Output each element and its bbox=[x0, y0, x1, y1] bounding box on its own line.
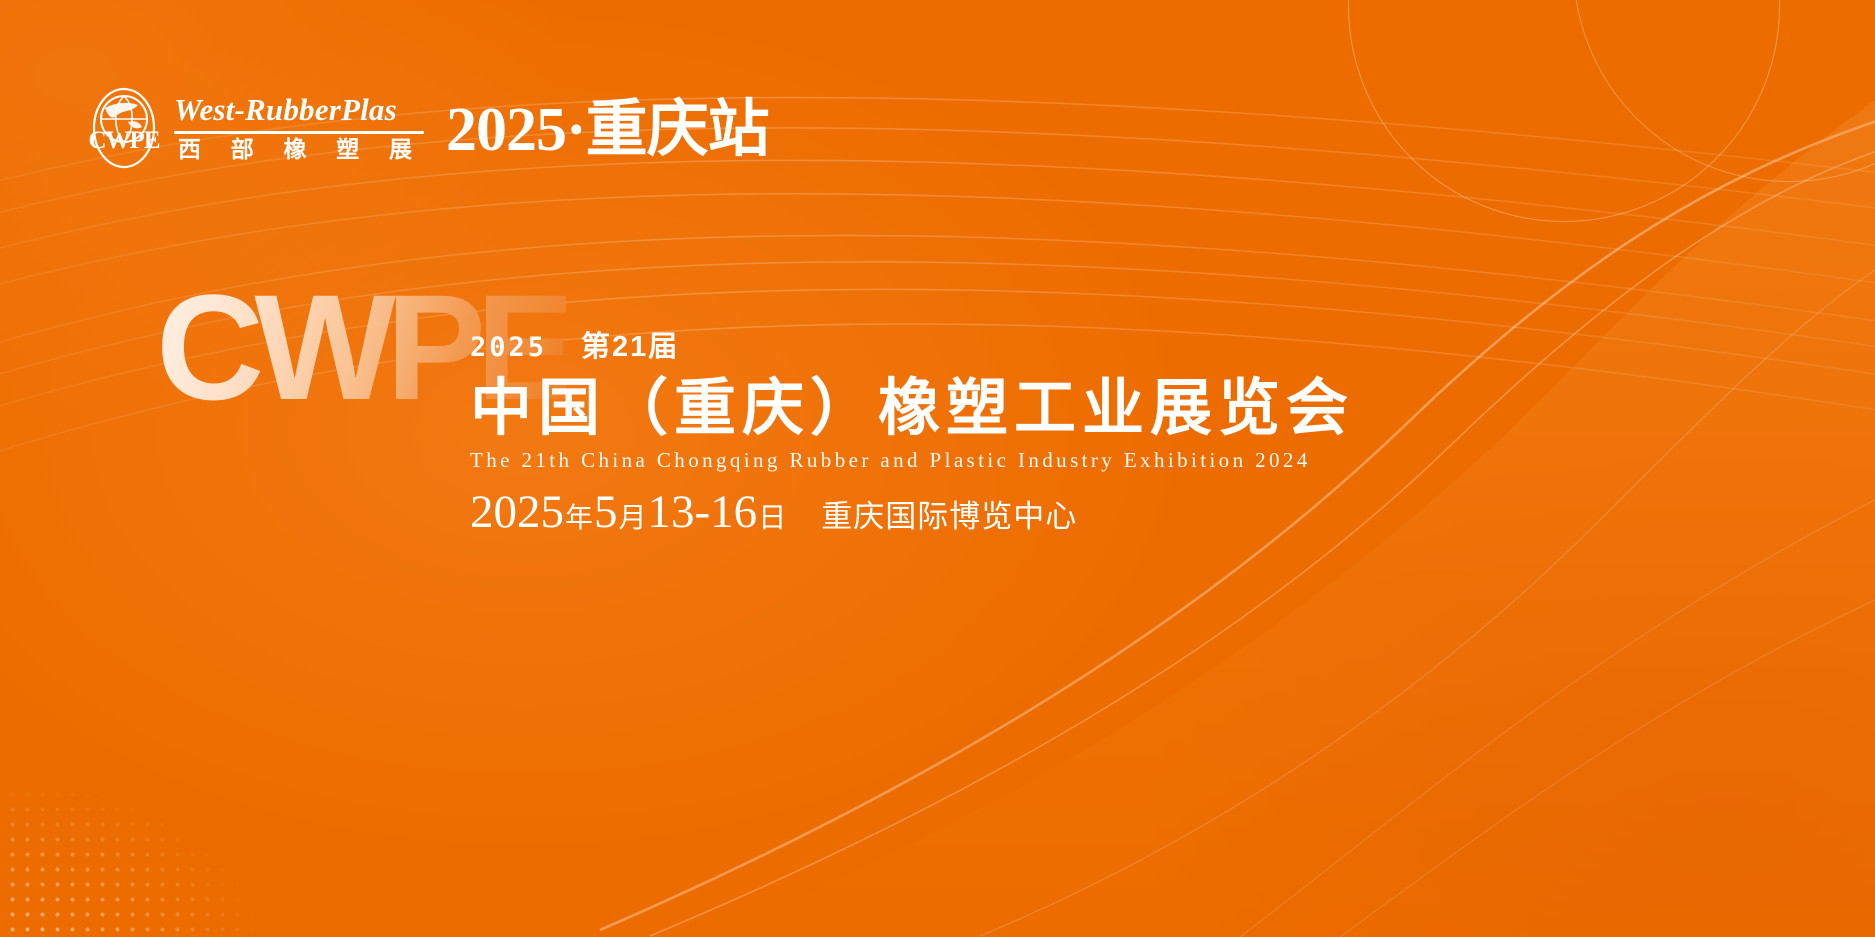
date-venue-line: 2025 年 5 月 13-16 日 重庆国际博览中心 bbox=[470, 489, 1354, 536]
brand-name-en: West-RubberPlas bbox=[174, 94, 424, 129]
svg-text:CWPE: CWPE bbox=[89, 127, 160, 154]
subtitle-en: The 21th China Chongqing Rubber and Plas… bbox=[470, 450, 1354, 471]
header-city-edition: 2025·重庆站 bbox=[446, 99, 769, 161]
header-lockup: CWPE West-RubberPlas 西 部 橡 塑 展 2025·重庆站 bbox=[82, 88, 769, 168]
halftone-dots bbox=[0, 667, 390, 937]
date-month: 5 bbox=[594, 489, 618, 536]
date-year-unit: 年 bbox=[564, 505, 594, 533]
brand-name-cn: 西 部 橡 塑 展 bbox=[174, 138, 424, 162]
edition-line: 2025 第21届 bbox=[470, 333, 1354, 362]
main-title-cn: 中国（重庆）橡塑工业展览会 bbox=[470, 376, 1354, 442]
date-year: 2025 bbox=[470, 489, 564, 536]
globe-icon: CWPE bbox=[82, 86, 166, 170]
brand-divider bbox=[174, 131, 424, 134]
venue-name: 重庆国际博览中心 bbox=[821, 501, 1077, 532]
event-banner: CWPE West-RubberPlas 西 部 橡 塑 展 2025·重庆站 … bbox=[0, 0, 1875, 937]
brand-lockup: West-RubberPlas 西 部 橡 塑 展 bbox=[174, 94, 424, 163]
edition-year: 2025 bbox=[470, 334, 547, 361]
edition-number: 第21届 bbox=[581, 333, 679, 362]
date-day-unit: 日 bbox=[757, 505, 787, 533]
date-days: 13-16 bbox=[648, 489, 758, 536]
date-month-unit: 月 bbox=[618, 505, 648, 533]
title-block: 2025 第21届 中国（重庆）橡塑工业展览会 The 21th China C… bbox=[470, 333, 1354, 536]
